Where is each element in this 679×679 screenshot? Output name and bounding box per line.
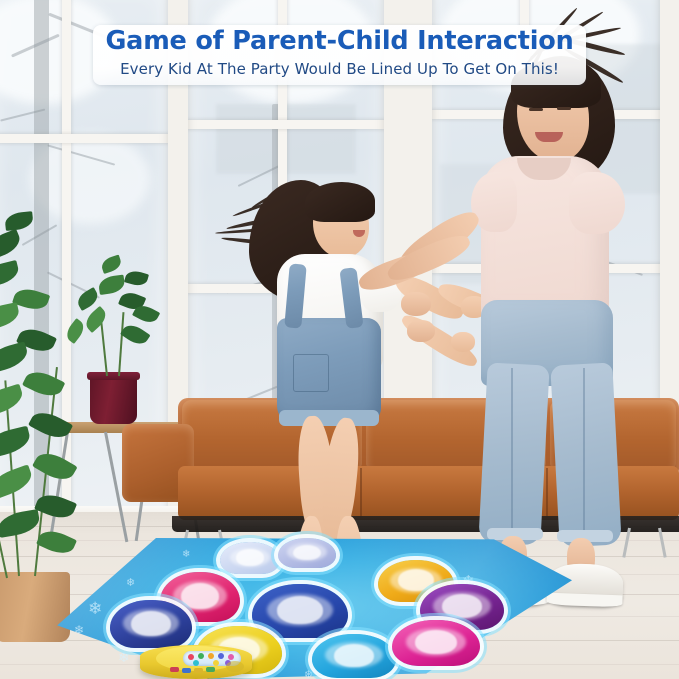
dance-mat-surface[interactable]: ❄ ❄ ❄ ❄ ❄ ❄ ❄ ❄ ❄ ❄ ❄ (52, 538, 572, 679)
adult-figure (455, 8, 675, 628)
controller-button[interactable] (208, 653, 214, 659)
mat-pad[interactable] (278, 538, 336, 568)
snowflake-icon: ❄ (74, 624, 84, 636)
window-mullion (186, 120, 386, 129)
mat-controller[interactable] (140, 637, 252, 679)
adult-sleeve (569, 172, 625, 234)
adult-jeans-leg-right (550, 363, 621, 548)
controller-button[interactable] (198, 653, 204, 659)
headline-banner: Game of Parent-Child Interaction Every K… (93, 25, 586, 85)
window-mullion (0, 134, 170, 143)
child-shorts-pocket (293, 354, 329, 392)
mat-pad[interactable] (220, 542, 280, 574)
adult-hand (407, 320, 435, 342)
controller-slider[interactable] (194, 668, 203, 673)
adult-jeans-leg-left (478, 363, 549, 546)
headline-title: Game of Parent-Child Interaction (93, 26, 586, 56)
dance-mat[interactable]: ❄ ❄ ❄ ❄ ❄ ❄ ❄ ❄ ❄ ❄ ❄ (52, 538, 572, 679)
controller-slider[interactable] (170, 667, 179, 672)
child-shorts-cuff (279, 410, 379, 426)
adult-eye (557, 107, 571, 110)
adult-eye (529, 108, 543, 111)
controller-button[interactable] (188, 654, 194, 660)
snowflake-icon: ❄ (182, 550, 190, 560)
child-hair-top (305, 182, 375, 222)
controller-slider[interactable] (206, 667, 215, 672)
controller-slider[interactable] (182, 668, 191, 673)
controller-button[interactable] (213, 660, 219, 666)
controller-speaker (226, 661, 244, 672)
controller-body[interactable] (140, 645, 252, 679)
adult-jeans-seam (511, 368, 513, 538)
controller-button[interactable] (228, 654, 234, 660)
snowflake-icon: ❄ (88, 600, 102, 617)
headline-subtitle: Every Kid At The Party Would Be Lined Up… (93, 60, 586, 78)
mat-pad[interactable] (312, 634, 396, 678)
adult-jeans-seam (583, 368, 585, 540)
snowflake-icon: ❄ (126, 578, 135, 589)
snowflake-icon: ❄ (118, 650, 130, 664)
adult-hand (401, 292, 431, 316)
product-lifestyle-image: ❄ ❄ ❄ ❄ ❄ ❄ ❄ ❄ ❄ ❄ ❄ (0, 0, 679, 679)
controller-button[interactable] (218, 653, 224, 659)
mat-pad[interactable] (392, 620, 480, 666)
controller-button[interactable] (193, 660, 199, 666)
